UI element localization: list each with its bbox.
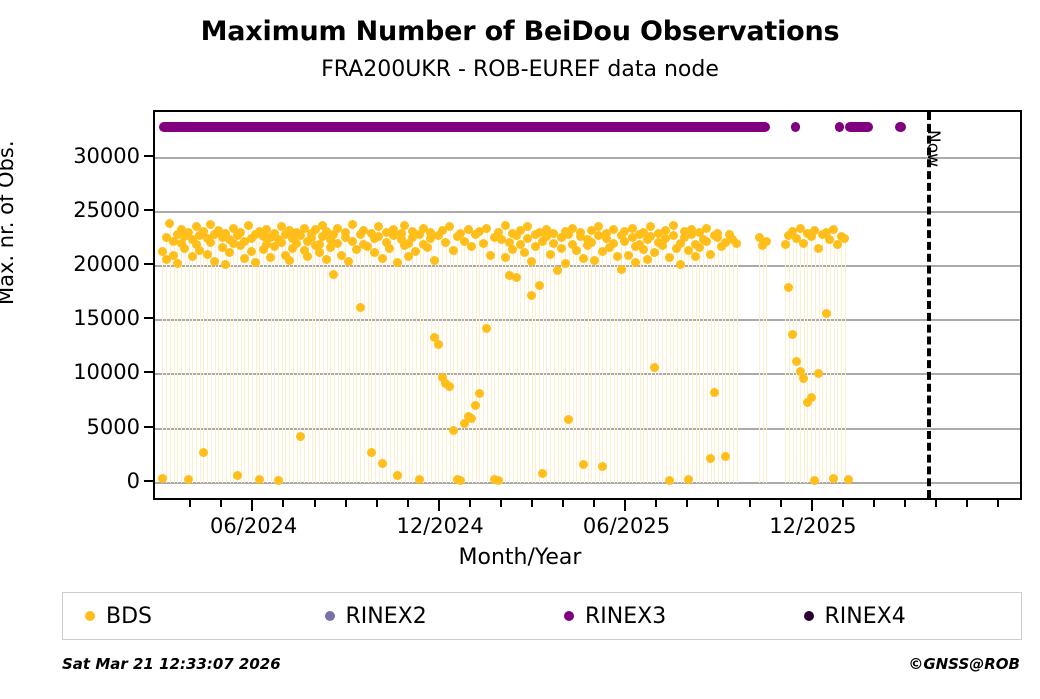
- data-dropline: [271, 238, 272, 483]
- data-dropline: [647, 240, 648, 483]
- data-point-bds: [169, 251, 178, 260]
- legend-label: BDS: [106, 604, 152, 629]
- data-dropline: [505, 226, 506, 483]
- data-dropline: [353, 225, 354, 483]
- legend-item[interactable]: BDS: [63, 604, 303, 629]
- data-point-bds: [609, 239, 618, 248]
- data-dropline: [308, 241, 309, 483]
- data-dropline: [807, 233, 808, 482]
- data-dropline: [513, 233, 514, 482]
- data-point-bds: [788, 330, 797, 339]
- x-axis-tick-minor: [220, 500, 222, 507]
- data-dropline: [643, 232, 644, 482]
- data-dropline: [610, 248, 611, 483]
- y-gridline: [155, 211, 1020, 213]
- y-axis-tick: [144, 480, 153, 482]
- y-axis-label: 25000: [73, 198, 140, 222]
- data-dropline: [397, 263, 398, 483]
- data-dropline: [349, 262, 350, 483]
- data-dropline: [483, 243, 484, 483]
- data-dropline: [539, 232, 540, 482]
- data-point-bds: [814, 369, 823, 378]
- data-point-bds: [732, 239, 741, 248]
- data-dropline: [826, 232, 827, 482]
- data-dropline: [636, 246, 637, 482]
- data-dropline: [535, 235, 536, 483]
- data-point-bds: [799, 239, 808, 248]
- x-axis-tick-major: [438, 500, 440, 511]
- data-dropline: [207, 239, 208, 483]
- data-dropline: [226, 233, 227, 482]
- data-point-bds: [285, 256, 294, 265]
- data-dropline: [696, 244, 697, 483]
- data-dropline: [233, 228, 234, 483]
- data-dropline: [815, 230, 816, 483]
- data-point-bds: [292, 239, 301, 248]
- data-dropline: [420, 235, 421, 483]
- data-dropline: [591, 230, 592, 483]
- data-dropline: [703, 240, 704, 483]
- y-axis-tick: [144, 317, 153, 319]
- x-axis-tick-minor: [282, 500, 284, 507]
- data-point-bds: [523, 222, 532, 231]
- data-point-bds: [479, 239, 488, 248]
- data-dropline: [580, 232, 581, 482]
- x-axis-title: Month/Year: [0, 545, 1040, 570]
- data-dropline: [684, 231, 685, 483]
- data-dropline: [629, 255, 630, 483]
- data-dropline: [498, 232, 499, 482]
- data-dropline: [789, 236, 790, 483]
- x-axis-tick-minor: [593, 500, 595, 507]
- data-point-bds: [233, 471, 242, 480]
- data-point-bds: [322, 255, 331, 264]
- x-axis-tick-minor: [655, 500, 657, 507]
- data-dropline: [785, 244, 786, 483]
- data-dropline: [446, 242, 447, 483]
- data-dropline: [845, 239, 846, 483]
- data-dropline: [722, 246, 723, 482]
- x-axis-tick-minor: [686, 500, 688, 507]
- data-point-bds: [613, 252, 622, 261]
- data-dropline: [338, 228, 339, 483]
- data-band-rinex3: [845, 122, 873, 132]
- data-dropline: [345, 232, 346, 482]
- data-dropline: [673, 226, 674, 483]
- x-axis-label: 12/2025: [769, 514, 856, 538]
- x-axis-tick-minor: [376, 500, 378, 507]
- data-point-bds: [449, 426, 458, 435]
- data-point-bds: [807, 393, 816, 402]
- data-dropline: [442, 230, 443, 483]
- data-dropline: [263, 237, 264, 483]
- data-dropline: [371, 233, 372, 482]
- data-dropline: [409, 243, 410, 483]
- y-axis-tick: [144, 371, 153, 373]
- data-dropline: [763, 245, 764, 482]
- data-dropline: [312, 233, 313, 482]
- data-point-bds: [449, 246, 458, 255]
- data-point-bds: [236, 228, 245, 237]
- data-dropline: [558, 270, 559, 483]
- data-point-bds: [546, 250, 555, 259]
- data-dropline: [453, 251, 454, 483]
- data-point-bds: [378, 459, 387, 468]
- data-dropline: [450, 227, 451, 483]
- data-dropline: [390, 249, 391, 483]
- data-point-bds: [781, 240, 790, 249]
- data-dropline: [729, 235, 730, 483]
- data-point-bds: [829, 474, 838, 483]
- y-axis-tick: [144, 209, 153, 211]
- data-dropline: [834, 229, 835, 483]
- data-dropline: [472, 246, 473, 482]
- data-dropline: [584, 258, 585, 482]
- data-dropline: [431, 232, 432, 482]
- data-dropline: [759, 238, 760, 483]
- data-dropline: [464, 241, 465, 483]
- x-axis-tick-minor: [562, 500, 564, 507]
- footer-copyright: ©GNSS@ROB: [908, 655, 1020, 673]
- data-dropline: [360, 235, 361, 483]
- y-axis-label: 10000: [73, 360, 140, 384]
- data-dropline: [569, 235, 570, 483]
- data-dropline: [200, 236, 201, 483]
- x-axis-tick-minor: [966, 500, 968, 507]
- data-dropline: [543, 241, 544, 483]
- data-dropline: [822, 235, 823, 483]
- y-axis-label: 30000: [73, 144, 140, 168]
- data-dropline: [588, 240, 589, 483]
- data-dropline: [476, 235, 477, 483]
- y-axis-label: 5000: [87, 415, 140, 439]
- data-dropline: [614, 229, 615, 483]
- data-dropline: [423, 228, 424, 483]
- x-axis-label: 06/2025: [583, 514, 670, 538]
- data-band-rinex3: [159, 122, 770, 132]
- data-dropline: [602, 252, 603, 483]
- data-dropline: [278, 240, 279, 483]
- data-point-bds: [203, 250, 212, 259]
- data-dropline: [267, 229, 268, 483]
- data-dropline: [230, 240, 231, 483]
- data-dropline: [435, 261, 436, 483]
- data-dropline: [386, 232, 387, 482]
- data-dropline: [394, 229, 395, 483]
- x-axis-tick-major: [251, 500, 253, 511]
- data-point-bds: [643, 255, 652, 264]
- data-band-rinex3: [895, 122, 906, 132]
- data-point-bds: [244, 221, 253, 230]
- data-point-bds: [348, 220, 357, 229]
- x-axis-label: 12/2024: [396, 514, 483, 538]
- y-axis-title: Max. nr. of Obs.: [0, 140, 18, 305]
- data-dropline: [688, 251, 689, 483]
- data-dropline: [487, 228, 488, 483]
- data-point-bds: [762, 237, 771, 246]
- data-dropline: [491, 255, 492, 483]
- data-point-bds: [702, 224, 711, 233]
- data-dropline: [819, 249, 820, 483]
- data-dropline: [341, 255, 342, 483]
- data-dropline: [651, 227, 652, 483]
- legend-item[interactable]: RINEX2: [303, 604, 543, 629]
- data-dropline: [256, 235, 257, 483]
- data-band-rinex3: [835, 122, 844, 132]
- data-dropline: [565, 231, 566, 483]
- x-axis-tick-minor: [407, 500, 409, 507]
- legend-label: RINEX3: [585, 604, 666, 629]
- data-dropline: [457, 237, 458, 483]
- data-point-bds: [527, 291, 536, 300]
- data-dropline: [573, 228, 574, 483]
- now-marker-line: [927, 112, 931, 498]
- data-dropline: [162, 252, 163, 483]
- x-axis-tick-minor: [345, 500, 347, 507]
- data-dropline: [282, 227, 283, 483]
- data-dropline: [662, 245, 663, 482]
- data-dropline: [837, 244, 838, 483]
- data-point-bds: [482, 224, 491, 233]
- data-dropline: [356, 250, 357, 483]
- data-dropline: [725, 242, 726, 483]
- legend-dot-bds-icon: [85, 611, 95, 621]
- data-dropline: [189, 232, 190, 482]
- data-point-bds: [315, 240, 324, 249]
- data-dropline: [259, 231, 260, 483]
- data-point-bds: [393, 258, 402, 267]
- x-axis-tick-minor: [717, 500, 719, 507]
- x-axis-tick-minor: [469, 500, 471, 507]
- data-point-bds: [792, 357, 801, 366]
- data-dropline: [170, 224, 171, 483]
- data-dropline: [670, 257, 671, 483]
- y-axis-label: 20000: [73, 252, 140, 276]
- data-dropline: [315, 229, 316, 483]
- y-axis-tick: [144, 263, 153, 265]
- data-point-bds: [423, 243, 432, 252]
- data-point-bds: [255, 475, 264, 484]
- now-marker-label: Now: [923, 130, 943, 167]
- data-dropline: [461, 233, 462, 482]
- legend-label: RINEX2: [346, 604, 427, 629]
- data-point-bds: [378, 254, 387, 263]
- x-axis-tick-minor: [780, 500, 782, 507]
- data-point-bds: [348, 237, 357, 246]
- data-point-bds: [199, 448, 208, 457]
- data-point-bds: [669, 221, 678, 230]
- data-point-bds: [617, 265, 626, 274]
- data-dropline: [222, 238, 223, 483]
- data-dropline: [658, 233, 659, 482]
- data-dropline: [181, 229, 182, 483]
- data-dropline: [401, 233, 402, 482]
- data-dropline: [252, 239, 253, 483]
- data-dropline: [800, 228, 801, 483]
- data-dropline: [289, 230, 290, 483]
- data-dropline: [185, 237, 186, 483]
- data-dropline: [699, 232, 700, 482]
- data-dropline: [677, 249, 678, 483]
- data-dropline: [427, 248, 428, 483]
- data-dropline: [241, 232, 242, 482]
- data-point-bds: [840, 234, 849, 243]
- data-point-bds: [367, 448, 376, 457]
- data-dropline: [718, 233, 719, 482]
- data-point-bds: [434, 340, 443, 349]
- footer-timestamp: Sat Mar 21 12:33:07 2026: [62, 655, 281, 673]
- data-point-bds: [822, 309, 831, 318]
- data-point-bds: [561, 259, 570, 268]
- data-dropline: [502, 240, 503, 483]
- data-point-bds: [441, 238, 450, 247]
- data-point-bds: [684, 475, 693, 484]
- data-dropline: [804, 243, 805, 483]
- data-dropline: [416, 252, 417, 483]
- legend-item[interactable]: RINEX4: [782, 604, 1022, 629]
- y-axis-tick: [144, 155, 153, 157]
- data-dropline: [304, 228, 305, 483]
- data-dropline: [405, 226, 406, 483]
- data-dropline: [166, 238, 167, 483]
- data-dropline: [327, 231, 328, 483]
- legend-dot-rinex2-icon: [325, 611, 335, 621]
- data-dropline: [218, 230, 219, 483]
- y-axis-label: 0: [127, 469, 140, 493]
- data-point-bds: [706, 250, 715, 259]
- data-dropline: [196, 227, 197, 483]
- data-dropline: [494, 238, 495, 483]
- data-point-bds: [587, 238, 596, 247]
- data-dropline: [412, 231, 413, 483]
- data-dropline: [323, 226, 324, 483]
- data-dropline: [606, 233, 607, 482]
- data-dropline: [714, 236, 715, 483]
- data-dropline: [830, 240, 831, 483]
- data-dropline: [576, 251, 577, 483]
- x-axis-tick-minor: [997, 500, 999, 507]
- x-axis-tick-minor: [749, 500, 751, 507]
- data-dropline: [666, 230, 667, 483]
- data-dropline: [319, 244, 320, 483]
- data-dropline: [293, 239, 294, 483]
- data-dropline: [550, 254, 551, 483]
- x-axis-tick-major: [624, 500, 626, 511]
- data-dropline: [561, 238, 562, 483]
- chart-subtitle: FRA200UKR - ROB-EUREF data node: [0, 57, 1040, 82]
- data-point-bds: [669, 231, 678, 240]
- data-dropline: [203, 231, 204, 483]
- data-dropline: [733, 240, 734, 483]
- data-dropline: [177, 235, 178, 483]
- data-dropline: [617, 256, 618, 483]
- legend-item[interactable]: RINEX3: [542, 604, 782, 629]
- data-point-bds: [274, 476, 283, 485]
- data-point-bds: [296, 432, 305, 441]
- data-point-bds: [501, 253, 510, 262]
- data-dropline: [368, 246, 369, 482]
- data-point-bds: [557, 244, 566, 253]
- data-band-rinex3: [791, 122, 800, 132]
- x-axis-tick-minor: [873, 500, 875, 507]
- data-dropline: [520, 230, 521, 483]
- data-point-bds: [393, 471, 402, 480]
- data-dropline: [841, 237, 842, 483]
- data-point-bds: [553, 266, 562, 275]
- x-axis-tick-minor: [531, 500, 533, 507]
- data-dropline: [546, 229, 547, 483]
- data-dropline: [766, 241, 767, 483]
- y-gridline: [155, 157, 1020, 159]
- data-dropline: [285, 235, 286, 483]
- data-dropline: [364, 230, 365, 483]
- data-dropline: [237, 236, 238, 483]
- data-dropline: [438, 236, 439, 483]
- y-axis-tick: [144, 426, 153, 428]
- data-dropline: [274, 233, 275, 482]
- legend-dot-rinex4-icon: [804, 611, 814, 621]
- data-point-bds: [665, 253, 674, 262]
- legend-dot-rinex3-icon: [564, 611, 574, 621]
- data-dropline: [300, 236, 301, 483]
- data-point-bds: [165, 219, 174, 228]
- x-axis-tick-minor: [842, 500, 844, 507]
- chart-legend: BDSRINEX2RINEX3RINEX4: [62, 592, 1022, 640]
- plot-canvas: Now: [155, 112, 1020, 498]
- data-dropline: [248, 226, 249, 483]
- data-point-bds: [535, 281, 544, 290]
- y-axis-label: 15000: [73, 306, 140, 330]
- data-point-bds: [538, 469, 547, 478]
- data-dropline: [524, 253, 525, 483]
- data-dropline: [215, 235, 216, 483]
- x-axis-tick-minor: [935, 500, 937, 507]
- data-point-bds: [829, 225, 838, 234]
- data-point-bds: [691, 252, 700, 261]
- data-point-bds: [266, 253, 275, 262]
- data-dropline: [382, 258, 383, 482]
- x-axis-tick-minor: [189, 500, 191, 507]
- plot-area: Now: [153, 110, 1022, 500]
- data-point-bds: [494, 476, 503, 485]
- x-axis-tick-major: [811, 500, 813, 511]
- data-dropline: [599, 227, 600, 483]
- x-axis-tick-minor: [314, 500, 316, 507]
- data-point-bds: [501, 221, 510, 230]
- data-dropline: [737, 243, 738, 483]
- x-axis-label: 06/2024: [210, 514, 297, 538]
- data-dropline: [174, 241, 175, 483]
- data-point-bds: [445, 382, 454, 391]
- data-dropline: [379, 227, 380, 483]
- data-dropline: [707, 228, 708, 483]
- x-axis-tick-minor: [500, 500, 502, 507]
- data-dropline: [479, 231, 480, 483]
- data-dropline: [244, 241, 245, 483]
- data-dropline: [375, 239, 376, 483]
- data-dropline: [595, 261, 596, 483]
- data-dropline: [640, 235, 641, 483]
- data-dropline: [711, 254, 712, 483]
- legend-label: RINEX4: [825, 604, 906, 629]
- data-dropline: [297, 232, 298, 482]
- data-dropline: [192, 240, 193, 483]
- x-axis-tick-minor: [904, 500, 906, 507]
- data-dropline: [681, 243, 682, 483]
- data-point-bds: [356, 303, 365, 312]
- data-point-bds: [598, 462, 607, 471]
- data-point-bds: [844, 475, 853, 484]
